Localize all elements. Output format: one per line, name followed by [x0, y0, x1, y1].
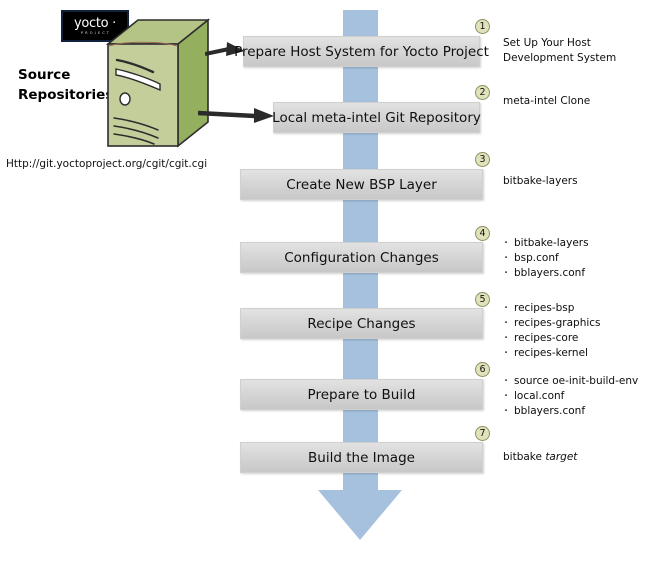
step-badge-4: 4 — [475, 226, 490, 241]
step-badge-7: 7 — [475, 426, 490, 441]
flow-box-create-new-bsp-layer[interactable]: Create New BSP Layer — [240, 169, 483, 200]
annotation-bullet: bsp.conf — [503, 251, 589, 266]
annotation-bullet: bblayers.conf — [503, 266, 589, 281]
flow-box-prepare-host-system[interactable]: Prepare Host System for Yocto Project — [243, 36, 480, 67]
step-badge-6: 6 — [475, 362, 490, 377]
annotation-bullet-list: recipes-bsp recipes-graphics recipes-cor… — [503, 301, 601, 361]
flow-box-recipe-changes[interactable]: Recipe Changes — [240, 308, 483, 339]
flow-box-local-meta-intel-git-repository[interactable]: Local meta-intel Git Repository — [273, 102, 480, 133]
annotation-line: meta-intel Clone — [503, 94, 590, 109]
annotation-bullet: source oe-init-build-env — [503, 374, 638, 389]
step-badge-2: 2 — [475, 85, 490, 100]
annotation-step-7: bitbake target — [503, 450, 577, 465]
annotation-step-1: Set Up Your Host Development System — [503, 36, 616, 66]
step-badge-1: 1 — [475, 19, 490, 34]
annotation-bullet-list: source oe-init-build-env local.conf bbla… — [503, 374, 638, 419]
annotation-step-6: source oe-init-build-env local.conf bbla… — [503, 374, 638, 419]
annotation-bullet: recipes-graphics — [503, 316, 601, 331]
source-repositories-group: yocto · PROJECT Source Repositories Http… — [0, 0, 240, 185]
annotation-step-4: bitbake-layers bsp.conf bblayers.conf — [503, 236, 589, 281]
annotation-command: bitbake — [503, 451, 545, 463]
annotation-step-2: meta-intel Clone — [503, 94, 590, 109]
annotation-step-3: bitbake-layers — [503, 174, 578, 189]
annotation-bullet: recipes-core — [503, 331, 601, 346]
annotation-command-argument: target — [545, 451, 577, 463]
arrow-right-icon-to-local-git — [198, 104, 278, 126]
annotation-bullet-list: bitbake-layers bsp.conf bblayers.conf — [503, 236, 589, 281]
step-badge-5: 5 — [475, 292, 490, 307]
server-tower-icon — [100, 14, 210, 160]
annotation-line: bitbake-layers — [503, 174, 578, 189]
annotation-bullet: local.conf — [503, 389, 638, 404]
flow-box-configuration-changes[interactable]: Configuration Changes — [240, 242, 483, 273]
annotation-line: Development System — [503, 51, 616, 66]
annotation-line: bitbake target — [503, 450, 577, 465]
arrow-down-icon — [318, 490, 402, 540]
annotation-bullet: recipes-kernel — [503, 346, 601, 361]
annotation-step-5: recipes-bsp recipes-graphics recipes-cor… — [503, 301, 601, 361]
step-badge-3: 3 — [475, 152, 490, 167]
source-repository-url[interactable]: Http://git.yoctoproject.org/cgit/cgit.cg… — [6, 158, 207, 170]
flow-box-prepare-to-build[interactable]: Prepare to Build — [240, 379, 483, 410]
annotation-bullet: recipes-bsp — [503, 301, 601, 316]
flow-box-build-the-image[interactable]: Build the Image — [240, 442, 483, 473]
annotation-line: Set Up Your Host — [503, 36, 616, 51]
annotation-bullet: bitbake-layers — [503, 236, 589, 251]
annotation-bullet: bblayers.conf — [503, 404, 638, 419]
